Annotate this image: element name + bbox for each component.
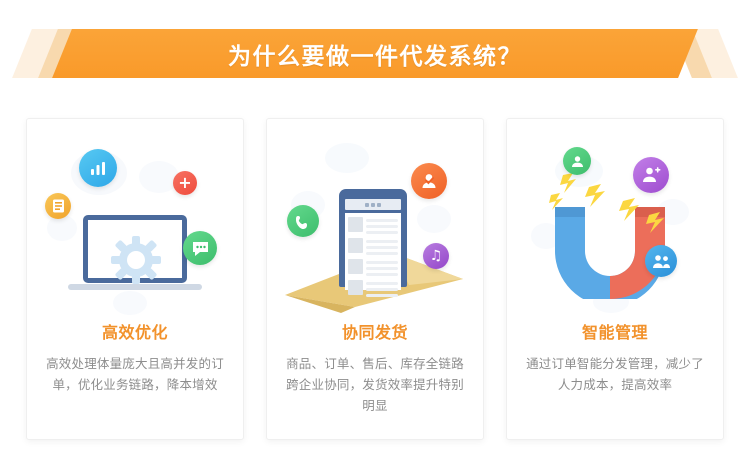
- illustration-phone-on-paper-plane: ♫: [275, 127, 475, 317]
- user-check-icon: [411, 163, 447, 199]
- phone-call-icon: [287, 205, 319, 237]
- feature-card[interactable]: ♫ 协同发货 商品、订单、售后、库存全链路跨企业协同，发货效率提升特别明显: [266, 118, 484, 440]
- section-heading: 为什么要做一件代发系统？: [0, 29, 750, 78]
- card-description: 通过订单智能分发管理，减少了人力成本，提高效率: [524, 353, 706, 395]
- phone-screen-list: [345, 213, 401, 290]
- plus-icon: +: [173, 171, 197, 195]
- section-banner: 为什么要做一件代发系统？: [0, 29, 750, 78]
- gear-icon: [109, 235, 163, 285]
- card-title: 智能管理: [582, 319, 648, 343]
- promo-page: 为什么要做一件代发系统？: [0, 0, 750, 476]
- card-title: 协同发货: [342, 319, 408, 343]
- phone-header-bar: [345, 199, 401, 210]
- add-user-icon: [633, 157, 669, 193]
- music-note-icon: ♫: [423, 243, 449, 269]
- card-description: 商品、订单、售后、库存全链路跨企业协同，发货效率提升特别明显: [284, 353, 466, 416]
- feature-card[interactable]: 智能管理 通过订单智能分发管理，减少了人力成本，提高效率: [506, 118, 724, 440]
- users-group-icon: [645, 245, 677, 277]
- chat-bubble-icon: [183, 231, 217, 265]
- document-icon: [45, 193, 71, 219]
- analytics-chart-icon: [79, 149, 117, 187]
- illustration-magnet-attracting-users: [515, 127, 715, 317]
- laptop-base: [68, 284, 202, 290]
- decorative-blob: [325, 143, 369, 173]
- phone-device: [339, 189, 407, 287]
- card-title: 高效优化: [102, 319, 168, 343]
- card-description: 高效处理体量庞大且高并发的订单，优化业务链路，降本增效: [44, 353, 226, 395]
- decorative-blob: [417, 205, 451, 233]
- decorative-blob: [113, 291, 147, 315]
- user-icon: [563, 147, 591, 175]
- decorative-blob: [139, 161, 179, 193]
- feature-card[interactable]: + 高效优化 高效处理体量庞大且高并发的订单，优化业务链路，降本增效: [26, 118, 244, 440]
- illustration-laptop-with-gear: +: [35, 127, 235, 317]
- feature-card-list: + 高效优化 高效处理体量庞大且高并发的订单，优化业务链路，降本增效: [26, 118, 724, 443]
- decorative-blob: [47, 215, 77, 241]
